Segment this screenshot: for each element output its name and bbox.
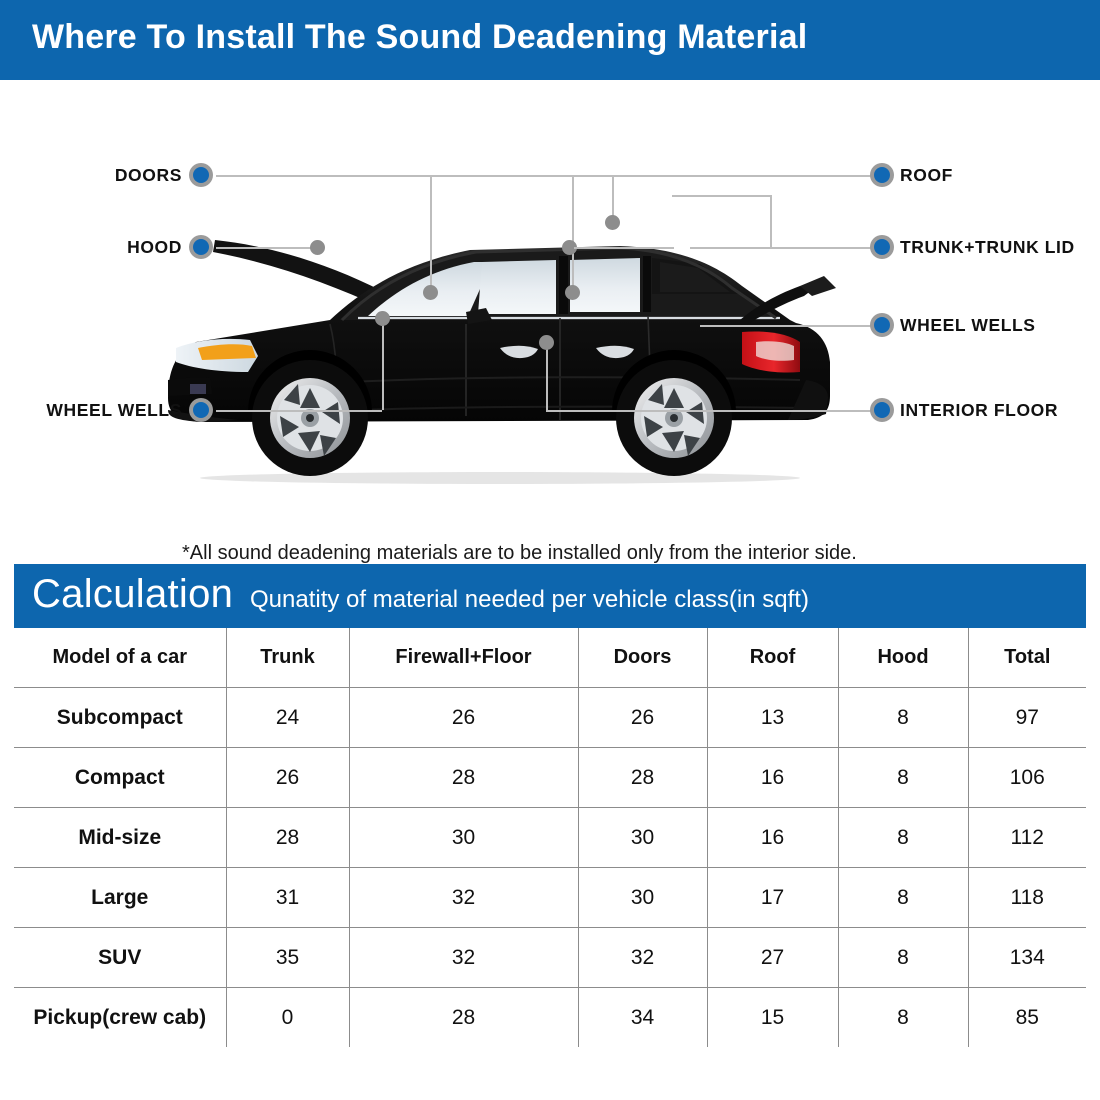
cell-trunk: 24 (226, 688, 349, 748)
leader-wheelwells-left-drop (382, 318, 384, 410)
cell-total: 112 (968, 808, 1086, 868)
cell-trunk: 35 (226, 928, 349, 988)
label-doors: DOORS (0, 163, 182, 187)
leader-roof-horizontal (612, 175, 872, 177)
cell-total: 118 (968, 868, 1086, 928)
cell-roof: 16 (707, 808, 838, 868)
cell-roof: 17 (707, 868, 838, 928)
marker-wheel-wells-left[interactable] (189, 398, 213, 422)
calculation-subtitle: Qunatity of material needed per vehicle … (250, 586, 809, 614)
hood-anchor (310, 240, 325, 255)
cell-firewall-floor: 30 (349, 808, 578, 868)
cell-roof: 15 (707, 988, 838, 1048)
cell-hood: 8 (838, 808, 968, 868)
rear-door-window (570, 258, 640, 312)
cell-hood: 8 (838, 928, 968, 988)
cell-doors: 28 (578, 748, 707, 808)
header-bar: Where To Install The Sound Deadening Mat… (0, 0, 1100, 80)
table-row: SUV 35 32 32 27 8 134 (14, 928, 1086, 988)
leader-trunk-drop (770, 195, 772, 247)
infographic-page: Where To Install The Sound Deadening Mat… (0, 0, 1100, 1100)
col-header-hood: Hood (838, 628, 968, 688)
turn-signal (198, 344, 256, 360)
front-wheel (252, 360, 368, 476)
label-hood: HOOD (0, 235, 182, 259)
table-row: Subcompact 24 26 26 13 8 97 (14, 688, 1086, 748)
calculation-title: Calculation (32, 572, 233, 617)
cell-total: 106 (968, 748, 1086, 808)
col-header-total: Total (968, 628, 1086, 688)
marker-doors[interactable] (189, 163, 213, 187)
label-trunk: TRUNK+TRUNK LID (900, 235, 1075, 259)
cell-firewall-floor: 28 (349, 988, 578, 1048)
cell-doors: 30 (578, 868, 707, 928)
cell-model: Compact (14, 748, 226, 808)
cell-trunk: 31 (226, 868, 349, 928)
cell-model: Subcompact (14, 688, 226, 748)
label-interior-floor: INTERIOR FLOOR (900, 398, 1058, 422)
front-door-window (478, 260, 556, 314)
front-sensor (190, 384, 206, 394)
interior-floor-anchor (539, 335, 554, 350)
doors-anchor-front (423, 285, 438, 300)
col-header-firewall-floor: Firewall+Floor (349, 628, 578, 688)
cell-roof: 16 (707, 748, 838, 808)
marker-roof[interactable] (870, 163, 894, 187)
label-wheel-wells-right: WHEEL WELLS (900, 313, 1036, 337)
cell-total: 85 (968, 988, 1086, 1048)
tail-light-reverse-lens (756, 341, 794, 361)
wheelwells-left-anchor (375, 311, 390, 326)
marker-interior-floor[interactable] (870, 398, 894, 422)
label-roof: ROOF (900, 163, 953, 187)
cell-firewall-floor: 32 (349, 868, 578, 928)
calculation-header: Calculation Qunatity of material needed … (14, 564, 1086, 628)
cell-roof: 27 (707, 928, 838, 988)
c-pillar (643, 256, 651, 312)
cell-firewall-floor: 28 (349, 748, 578, 808)
leader-hood-horizontal (216, 247, 316, 249)
cell-doors: 34 (578, 988, 707, 1048)
cell-doors: 30 (578, 808, 707, 868)
table-row: Mid-size 28 30 30 16 8 112 (14, 808, 1086, 868)
page-title: Where To Install The Sound Deadening Mat… (32, 18, 807, 57)
doors-anchor-rear (565, 285, 580, 300)
cell-model: Pickup(crew cab) (14, 988, 226, 1048)
table-row: Large 31 32 30 17 8 118 (14, 868, 1086, 928)
table-row: Pickup(crew cab) 0 28 34 15 8 85 (14, 988, 1086, 1048)
col-header-model: Model of a car (14, 628, 226, 688)
cell-hood: 8 (838, 688, 968, 748)
leader-wheelwells-right (700, 325, 872, 327)
cell-trunk: 26 (226, 748, 349, 808)
leader-trunk-horizontal (690, 247, 872, 249)
marker-trunk[interactable] (870, 235, 894, 259)
b-pillar (559, 256, 568, 314)
leader-interior-floor-horizontal (546, 410, 872, 412)
cell-total: 97 (968, 688, 1086, 748)
leader-interior-floor-drop (546, 342, 548, 410)
leader-wheelwells-left-horizontal (216, 410, 382, 412)
col-header-doors: Doors (578, 628, 707, 688)
footnote: *All sound deadening materials are to be… (182, 542, 1002, 565)
col-header-trunk: Trunk (226, 628, 349, 688)
ground-shadow (200, 472, 800, 484)
leader-trunk-stub (574, 247, 674, 249)
cell-model: SUV (14, 928, 226, 988)
cell-firewall-floor: 26 (349, 688, 578, 748)
table-header-row: Model of a car Trunk Firewall+Floor Door… (14, 628, 1086, 688)
marker-wheel-wells-right[interactable] (870, 313, 894, 337)
leader-trunk-top (672, 195, 772, 197)
cell-hood: 8 (838, 988, 968, 1048)
cell-model: Large (14, 868, 226, 928)
leader-doors-drop-front (430, 175, 432, 293)
cell-hood: 8 (838, 748, 968, 808)
label-wheel-wells-left: WHEEL WELLS (0, 398, 182, 422)
cell-firewall-floor: 32 (349, 928, 578, 988)
roof-anchor (605, 215, 620, 230)
rear-wheel (616, 360, 732, 476)
cell-trunk: 28 (226, 808, 349, 868)
cell-hood: 8 (838, 868, 968, 928)
leader-doors-horizontal (216, 175, 664, 177)
calculation-table: Model of a car Trunk Firewall+Floor Door… (14, 628, 1086, 1047)
table-row: Compact 26 28 28 16 8 106 (14, 748, 1086, 808)
marker-hood[interactable] (189, 235, 213, 259)
cell-doors: 32 (578, 928, 707, 988)
cell-roof: 13 (707, 688, 838, 748)
cell-model: Mid-size (14, 808, 226, 868)
cell-total: 134 (968, 928, 1086, 988)
table-body: Subcompact 24 26 26 13 8 97 Compact 26 2… (14, 688, 1086, 1048)
leader-doors-drop-rear (572, 175, 574, 293)
col-header-roof: Roof (707, 628, 838, 688)
cell-doors: 26 (578, 688, 707, 748)
vehicle-diagram: DOORS HOOD WHEEL WELLS ROOF TRUNK+TRUNK … (0, 80, 1100, 550)
cell-trunk: 0 (226, 988, 349, 1048)
